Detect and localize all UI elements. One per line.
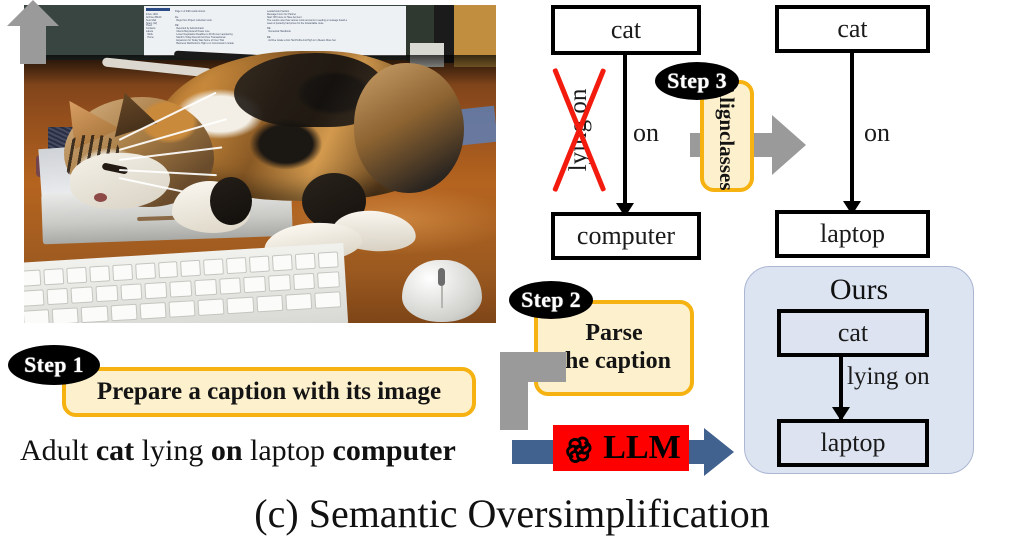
cat-nose (94, 193, 107, 202)
step-3-badge-label: Step 3 (667, 68, 727, 94)
step-1-callout: Prepare a caption with its image (62, 367, 476, 417)
llm-box: LLM (553, 425, 689, 471)
graph-right-object-node: laptop (775, 210, 930, 258)
graph-left-object-label: computer (577, 223, 675, 249)
step-1-badge: Step 1 (8, 345, 100, 385)
step-3-callout-line2: classes (716, 131, 738, 191)
figure-root: Inbox 1294 Archive 88120 Sent Mail Spam … (0, 0, 1024, 550)
ours-subject-label: cat (838, 320, 868, 346)
ours-object-label: laptop (821, 430, 886, 456)
graph-right-edge-line (850, 53, 854, 213)
graph-right-relation-label: on (864, 118, 890, 148)
openai-flower-icon (561, 431, 595, 465)
graph-left-object-node: computer (551, 212, 701, 260)
graph-right-subject-node: cat (775, 5, 930, 53)
cat-sleeping-on-laptop-photo: Inbox 1294 Archive 88120 Sent Mail Spam … (24, 5, 496, 323)
caption-part-4: laptop (243, 434, 333, 467)
cat-front-paw-dark (210, 177, 252, 225)
graph-right-subject-label: cat (837, 16, 867, 42)
graph-left-subject-label: cat (611, 17, 641, 43)
caption-sentence: Adult cat lying on laptop computer (20, 434, 456, 468)
graph-left-subject-node: cat (551, 5, 701, 55)
graph-left-rejected-relation: lying on (556, 68, 602, 192)
graph-left-edge-line (623, 55, 627, 215)
caption-part-0: Adult (20, 434, 96, 467)
ours-relation-label: lying on (847, 363, 930, 391)
step-3-badge: Step 3 (655, 62, 739, 100)
ours-panel: Ours cat lying on laptop (744, 266, 974, 474)
caption-part-5: computer (333, 434, 456, 467)
step-2-badge-label: Step 2 (521, 287, 581, 313)
graph-right-object-label: laptop (820, 221, 885, 247)
ours-object-node: laptop (777, 419, 929, 467)
caption-part-1: cat (96, 434, 134, 467)
llm-label: LLM (603, 431, 680, 465)
step-1-badge-label: Step 1 (24, 352, 84, 378)
graph-left-relation-label: on (633, 118, 659, 148)
figure-caption: (c) Semantic Oversimplification (0, 490, 1024, 537)
step-2-badge: Step 2 (509, 281, 593, 319)
step-2-callout-line1: Parse (557, 320, 671, 348)
cat-rump (354, 63, 464, 193)
step-1-callout-label: Prepare a caption with its image (97, 378, 441, 406)
ours-subject-node: cat (777, 309, 929, 357)
red-cross-out-icon (556, 68, 602, 192)
computer-mouse (402, 260, 482, 322)
step-1-gray-elbow-connector (500, 352, 576, 430)
caption-part-2: lying (134, 434, 211, 467)
caption-part-3: on (211, 434, 243, 467)
ours-panel-title: Ours (745, 273, 973, 307)
